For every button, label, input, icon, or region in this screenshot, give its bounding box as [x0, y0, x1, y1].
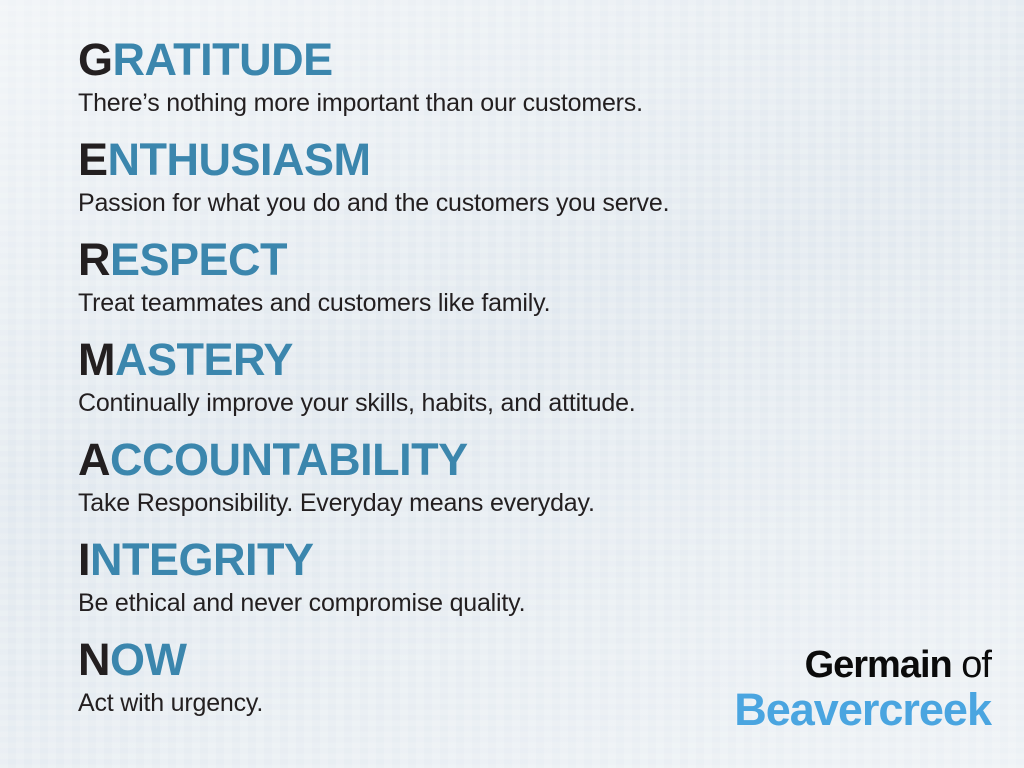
value-word-integrity: INTEGRITY	[78, 536, 1004, 584]
value-block-accountability: ACCOUNTABILITY Take Responsibility. Ever…	[78, 436, 1004, 536]
brand-connector: of	[961, 644, 991, 686]
value-block-gratitude: GRATITUDE There’s nothing more important…	[78, 36, 1004, 136]
value-rest-integrity: NTEGRITY	[90, 534, 314, 585]
value-initial-respect: R	[78, 234, 110, 285]
brand-logo-line-top: Germain of	[734, 644, 991, 686]
value-description-accountability: Take Responsibility. Everyday means ever…	[78, 488, 1004, 518]
value-initial-gratitude: G	[78, 34, 113, 85]
value-rest-mastery: ASTERY	[115, 334, 293, 385]
brand-location: Beavercreek	[734, 686, 991, 734]
value-rest-now: OW	[110, 634, 186, 685]
value-block-respect: RESPECT Treat teammates and customers li…	[78, 236, 1004, 336]
value-initial-now: N	[78, 634, 110, 685]
value-word-mastery: MASTERY	[78, 336, 1004, 384]
value-initial-mastery: M	[78, 334, 115, 385]
value-rest-gratitude: RATITUDE	[113, 34, 333, 85]
value-initial-accountability: A	[78, 434, 110, 485]
value-word-accountability: ACCOUNTABILITY	[78, 436, 1004, 484]
value-description-respect: Treat teammates and customers like famil…	[78, 288, 1004, 318]
value-block-integrity: INTEGRITY Be ethical and never compromis…	[78, 536, 1004, 636]
value-description-mastery: Continually improve your skills, habits,…	[78, 388, 1004, 418]
value-rest-respect: ESPECT	[110, 234, 287, 285]
value-word-enthusiasm: ENTHUSIASM	[78, 136, 1004, 184]
value-rest-accountability: CCOUNTABILITY	[110, 434, 468, 485]
values-slide: GRATITUDE There’s nothing more important…	[0, 0, 1024, 768]
core-values-list: GRATITUDE There’s nothing more important…	[78, 36, 1004, 736]
value-initial-integrity: I	[78, 534, 90, 585]
value-word-gratitude: GRATITUDE	[78, 36, 1004, 84]
value-description-integrity: Be ethical and never compromise quality.	[78, 588, 1004, 618]
value-description-gratitude: There’s nothing more important than our …	[78, 88, 1004, 118]
value-word-respect: RESPECT	[78, 236, 1004, 284]
brand-logo: Germain of Beavercreek	[734, 644, 991, 734]
value-block-mastery: MASTERY Continually improve your skills,…	[78, 336, 1004, 436]
value-block-enthusiasm: ENTHUSIASM Passion for what you do and t…	[78, 136, 1004, 236]
value-initial-enthusiasm: E	[78, 134, 108, 185]
value-rest-enthusiasm: NTHUSIASM	[108, 134, 371, 185]
value-description-enthusiasm: Passion for what you do and the customer…	[78, 188, 1004, 218]
brand-name: Germain	[805, 644, 952, 686]
